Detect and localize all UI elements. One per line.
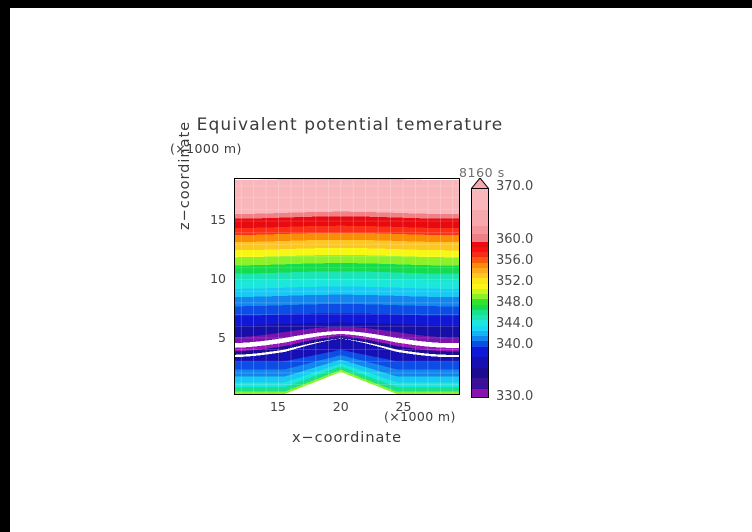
x-tick-label: 15 <box>263 399 293 414</box>
contour-field <box>235 179 459 394</box>
colorbar-band <box>472 189 488 210</box>
colorbar-tick-label: 340.0 <box>496 337 533 352</box>
colorbar-body <box>471 188 489 398</box>
colorbar-tick-label: 360.0 <box>496 232 533 247</box>
colorbar[interactable] <box>471 178 489 398</box>
figure-page: Equivalent potential temerature (×1000 m… <box>0 0 752 532</box>
colorbar-tick-label: 330.0 <box>496 389 533 404</box>
colorbar-band <box>472 234 488 242</box>
colorbar-band <box>472 347 488 358</box>
colorbar-band <box>472 210 488 226</box>
figure-canvas: Equivalent potential temerature (×1000 m… <box>10 8 752 532</box>
y-tick-label: 10 <box>200 271 226 286</box>
colorbar-tick-label: 370.0 <box>496 179 533 194</box>
colorbar-band <box>472 378 488 389</box>
x-tick-label: 25 <box>389 399 419 414</box>
figure-title: Equivalent potential temerature <box>170 115 530 135</box>
y-tick-label: 5 <box>200 330 226 345</box>
contour-band <box>235 179 459 214</box>
y-tick-label: 15 <box>200 212 226 227</box>
contour-plot[interactable] <box>234 178 460 395</box>
colorbar-tick-label: 348.0 <box>496 295 533 310</box>
colorbar-tick-label: 344.0 <box>496 316 533 331</box>
colorbar-band <box>472 357 488 368</box>
colorbar-band <box>472 389 488 399</box>
x-axis-title: x−coordinate <box>234 430 460 446</box>
x-tick-label: 20 <box>326 399 356 414</box>
colorbar-tick-label: 356.0 <box>496 253 533 268</box>
colorbar-tick-label: 352.0 <box>496 274 533 289</box>
colorbar-band <box>472 226 488 234</box>
y-axis-title: z−coordinate <box>177 121 193 230</box>
colorbar-band <box>472 368 488 379</box>
